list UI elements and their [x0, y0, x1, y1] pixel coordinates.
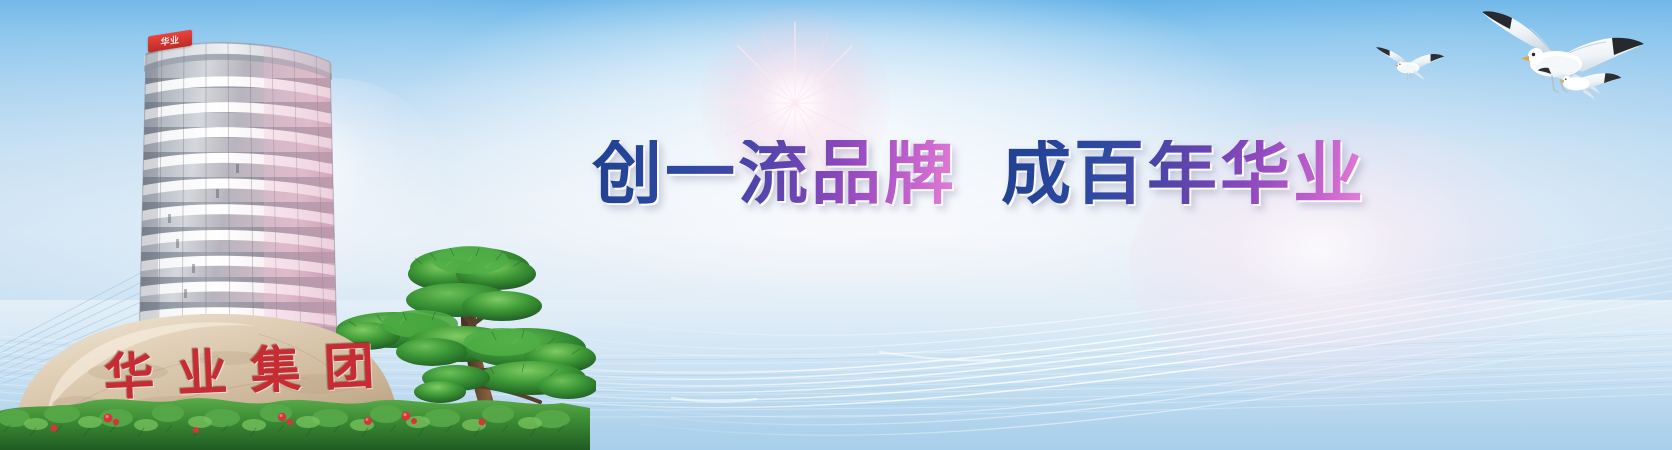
- slogan-part-1: 创一流品牌: [592, 140, 957, 210]
- slogan-text: 创一流品牌 成百年华业: [592, 132, 1366, 218]
- garden-hedge: [0, 388, 590, 450]
- seagull-group: [1370, 4, 1670, 122]
- hero-banner: 华业: [0, 0, 1672, 450]
- slogan-part-2: 成百年华业: [1001, 140, 1366, 210]
- seagull-icon: [1376, 47, 1444, 80]
- seagull-icon: [1538, 68, 1621, 100]
